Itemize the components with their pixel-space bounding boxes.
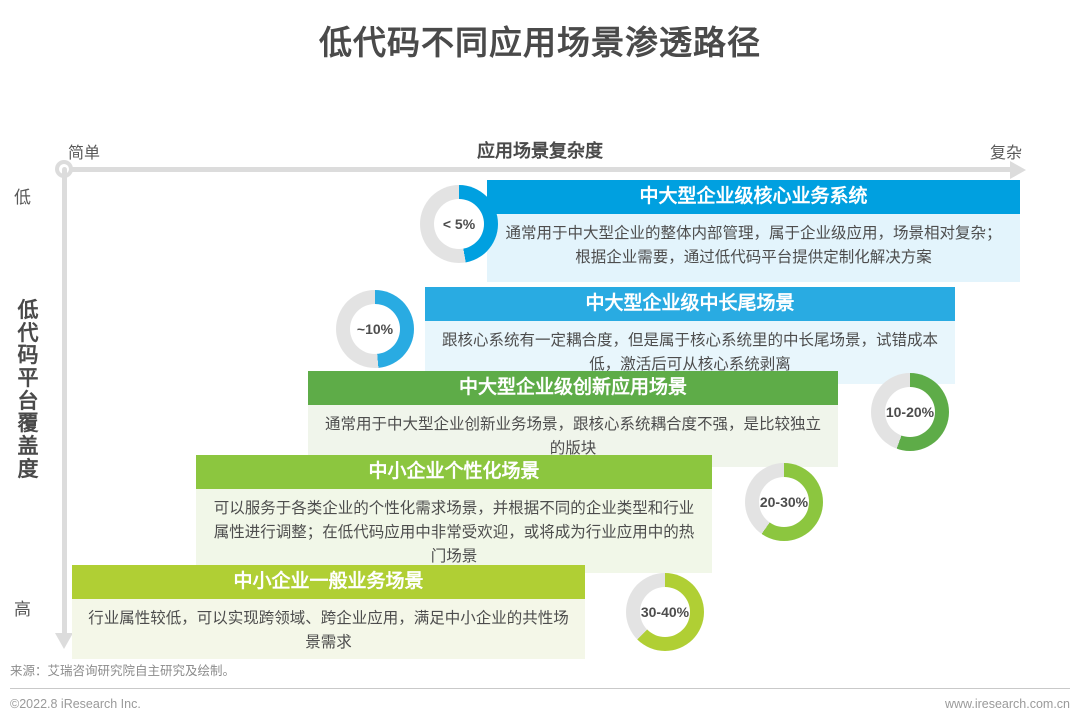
donut-value-label: 20-30% — [760, 494, 808, 510]
y-axis-title: 低代码平台覆盖度 — [14, 300, 42, 481]
scenario-card-body: 通常用于中大型企业的整体内部管理，属于企业级应用，场景相对复杂；根据企业需要，通… — [487, 214, 1020, 282]
source-note: 来源：艾瑞咨询研究院自主研究及绘制。 — [10, 660, 235, 679]
donut-hole: < 5% — [434, 199, 484, 249]
scenario-card-header: 中小企业个性化场景 — [196, 455, 712, 489]
scenario-card-mid-long-tail[interactable]: 中大型企业级中长尾场景 跟核心系统有一定耦合度，但是属于核心系统里的中长尾场景，… — [425, 287, 955, 384]
scenario-card-core-business-system[interactable]: 中大型企业级核心业务系统 通常用于中大型企业的整体内部管理，属于企业级应用，场景… — [487, 180, 1020, 282]
donut-hole: 20-30% — [759, 477, 809, 527]
chart-plot-area: 简单 应用场景复杂度 复杂 低 低代码平台覆盖度 高 中大型企业级核心业务系统 … — [0, 0, 1080, 660]
donut-value-label: 30-40% — [641, 604, 689, 620]
scenario-card-header: 中大型企业级中长尾场景 — [425, 287, 955, 321]
y-axis-arrow-icon — [55, 633, 73, 649]
scenario-card-header: 中大型企业级核心业务系统 — [487, 180, 1020, 214]
scenario-card-sme-personalized[interactable]: 中小企业个性化场景 可以服务于各类企业的个性化需求场景，并根据不同的企业类型和行… — [196, 455, 712, 573]
donut-value-label: < 5% — [443, 216, 475, 232]
donut-chart-core-business-system: < 5% — [420, 185, 498, 263]
x-axis-right-label: 复杂 — [990, 139, 1022, 163]
scenario-card-body: 行业属性较低，可以实现跨领域、跨企业应用，满足中小企业的共性场景需求 — [72, 599, 585, 659]
donut-chart-sme-personalized: 20-30% — [745, 463, 823, 541]
donut-chart-innovation-scenario: 10-20% — [871, 373, 949, 451]
donut-hole: 30-40% — [640, 587, 690, 637]
footer-divider — [10, 688, 1070, 689]
donut-value-label: 10-20% — [886, 404, 934, 420]
scenario-card-header: 中大型企业级创新应用场景 — [308, 371, 838, 405]
y-axis-line — [62, 167, 67, 635]
x-axis-line — [62, 167, 1014, 172]
scenario-card-innovation-scenario[interactable]: 中大型企业级创新应用场景 通常用于中大型企业创新业务场景，跟核心系统耦合度不强，… — [308, 371, 838, 467]
footer-website[interactable]: www.iresearch.com.cn — [945, 697, 1070, 711]
donut-chart-mid-long-tail: ~10% — [336, 290, 414, 368]
donut-hole: ~10% — [350, 304, 400, 354]
y-axis-top-label: 低 — [14, 183, 31, 208]
donut-hole: 10-20% — [885, 387, 935, 437]
y-axis-bottom-label: 高 — [14, 595, 31, 620]
scenario-card-body: 可以服务于各类企业的个性化需求场景，并根据不同的企业类型和行业属性进行调整；在低… — [196, 489, 712, 573]
donut-value-label: ~10% — [357, 321, 393, 337]
x-axis-arrow-icon — [1010, 161, 1026, 179]
scenario-card-sme-general[interactable]: 中小企业一般业务场景 行业属性较低，可以实现跨领域、跨企业应用，满足中小企业的共… — [72, 565, 585, 659]
x-axis-title: 应用场景复杂度 — [0, 137, 1080, 163]
donut-chart-sme-general: 30-40% — [626, 573, 704, 651]
footer-copyright: ©2022.8 iResearch Inc. — [10, 697, 141, 711]
scenario-card-header: 中小企业一般业务场景 — [72, 565, 585, 599]
